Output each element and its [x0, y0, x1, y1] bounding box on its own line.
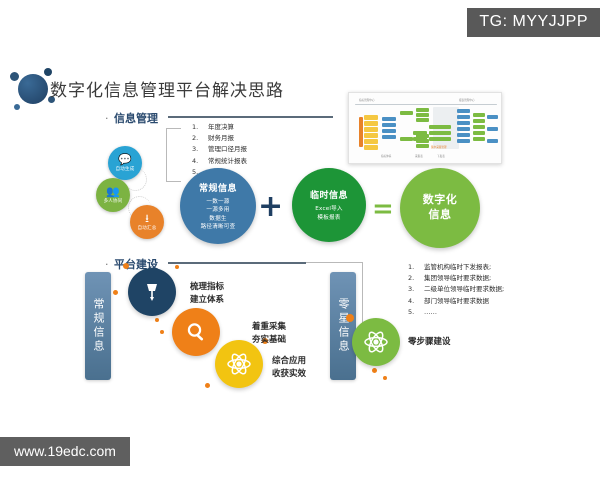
equals-operator-icon: =	[372, 196, 394, 222]
step-label-three: 综合应用 收获实效	[272, 355, 306, 381]
fountain-pen-icon	[140, 280, 164, 304]
vertical-bar-regular-information: 常规信息	[85, 272, 111, 380]
people-group-icon: 👥	[106, 186, 120, 197]
section-rule-two	[168, 262, 306, 264]
feature-circle-auto-aggregate[interactable]: ⭳ 自动汇总	[130, 205, 164, 239]
step-circle-zero-step-construction[interactable]	[352, 318, 400, 366]
list-item: 4.部门领导临时要求数据	[408, 296, 504, 307]
list-item: 2.集团领导临时要求数据;	[408, 273, 504, 284]
atom-icon	[363, 329, 389, 355]
tg-tag-overlay: TG: MYYJJPP	[467, 8, 600, 37]
step-label-one: 梳理指标 建立体系	[190, 281, 224, 307]
connector-line-top	[306, 262, 362, 263]
site-watermark: www.19edc.com	[0, 437, 130, 466]
circle-digital-information[interactable]: 数字化 信息	[400, 168, 480, 248]
circle-regular-information[interactable]: 常规信息 一数一源 一源多用 数据生 路径清晰可查	[180, 168, 256, 244]
bracket-connector	[166, 128, 181, 182]
section-rule-one	[168, 116, 333, 118]
list-item: 3.管理口径月报	[192, 144, 247, 155]
download-tray-icon: ⭳	[145, 213, 149, 224]
step-circle-build-index-system[interactable]	[128, 268, 176, 316]
list-item: 3.二级单位领导临时要求数据;	[408, 284, 504, 295]
step-circle-focus-collection[interactable]	[172, 308, 220, 356]
list-item: 1.年度决算	[192, 122, 247, 133]
chat-bubbles-icon: 💬	[118, 154, 132, 165]
list-item: 1.监管机构临时下发报表;	[408, 262, 504, 273]
step-circle-comprehensive-application[interactable]	[215, 340, 263, 388]
bullet-dot: ·	[105, 112, 114, 125]
list-item: 5.……	[408, 307, 504, 318]
feature-circle-collaboration[interactable]: 👥 多人协同	[96, 178, 130, 212]
system-screenshot-thumbnail[interactable]: 指标管理中心 报表管理中心 指标体系 采集表 下发表 集中采集管理	[348, 92, 502, 164]
circle-temporary-information[interactable]: 临时信息 Excel导入 模板报表	[292, 168, 366, 242]
list-item: 2.财务月报	[192, 133, 247, 144]
slide-canvas: TG: MYYJJPP 数字化信息管理平台解决思路 ·信息管理 1.年度决算 2…	[0, 0, 600, 480]
step-label-two: 着重采集 夯实基础	[252, 321, 286, 347]
sporadic-information-list: 1.监管机构临时下发报表; 2.集团领导临时要求数据; 3.二级单位领导临时要求…	[408, 262, 504, 318]
list-item: 4.常规统计报表	[192, 156, 247, 167]
atom-icon	[226, 351, 252, 377]
feature-circle-auto-generate[interactable]: 💬 自动生成	[108, 146, 142, 180]
section-label-info-management: ·信息管理	[105, 110, 158, 126]
bullet-dot: ·	[105, 258, 114, 271]
page-title: 数字化信息管理平台解决思路	[50, 76, 284, 101]
step-label-four: 零步骤建设	[408, 336, 451, 349]
magnifier-icon	[184, 320, 208, 344]
vertical-bar-sporadic-information: 零星信息	[330, 272, 356, 380]
plus-operator-icon: +	[258, 192, 283, 222]
